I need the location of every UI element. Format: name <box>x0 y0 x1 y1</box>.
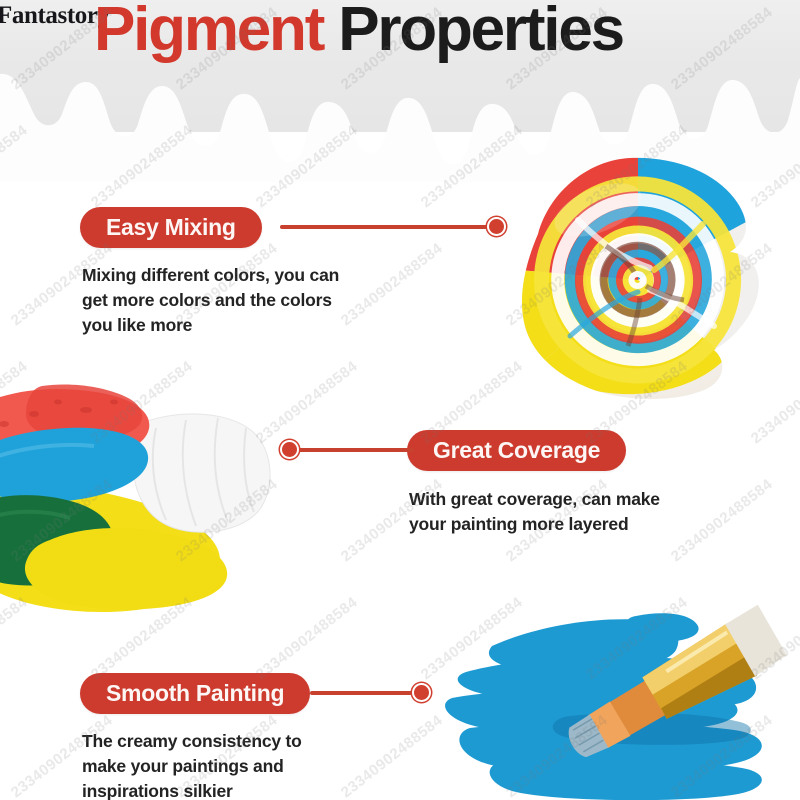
feature-body-easy-mixing: Mixing different colors, you can get mor… <box>82 263 412 338</box>
feature-body-great-coverage: With great coverage, can make your paint… <box>409 487 769 537</box>
connector-dot-1 <box>489 219 504 234</box>
connector-dot-2 <box>282 442 297 457</box>
brush-on-blue-paint-image <box>440 580 800 800</box>
connector-dot-3 <box>414 685 429 700</box>
feature-badge-smooth-painting[interactable]: Smooth Painting <box>80 673 310 714</box>
connector-line-3 <box>310 691 420 695</box>
connector-line-1 <box>280 225 496 229</box>
feature-badge-easy-mixing[interactable]: Easy Mixing <box>80 207 262 248</box>
infographic-page: Fantastory™ Pigment Properties <box>0 0 800 800</box>
feature-body-smooth-painting: The creamy consistency to make your pain… <box>82 729 402 800</box>
mixed-paint-swirl-image <box>478 150 800 412</box>
feature-badge-great-coverage[interactable]: Great Coverage <box>407 430 626 471</box>
feature-badge-label: Great Coverage <box>433 437 600 464</box>
paint-swatches-image <box>0 372 290 634</box>
feature-badge-label: Smooth Painting <box>106 680 284 707</box>
connector-line-2 <box>288 448 414 452</box>
feature-badge-label: Easy Mixing <box>106 214 236 241</box>
